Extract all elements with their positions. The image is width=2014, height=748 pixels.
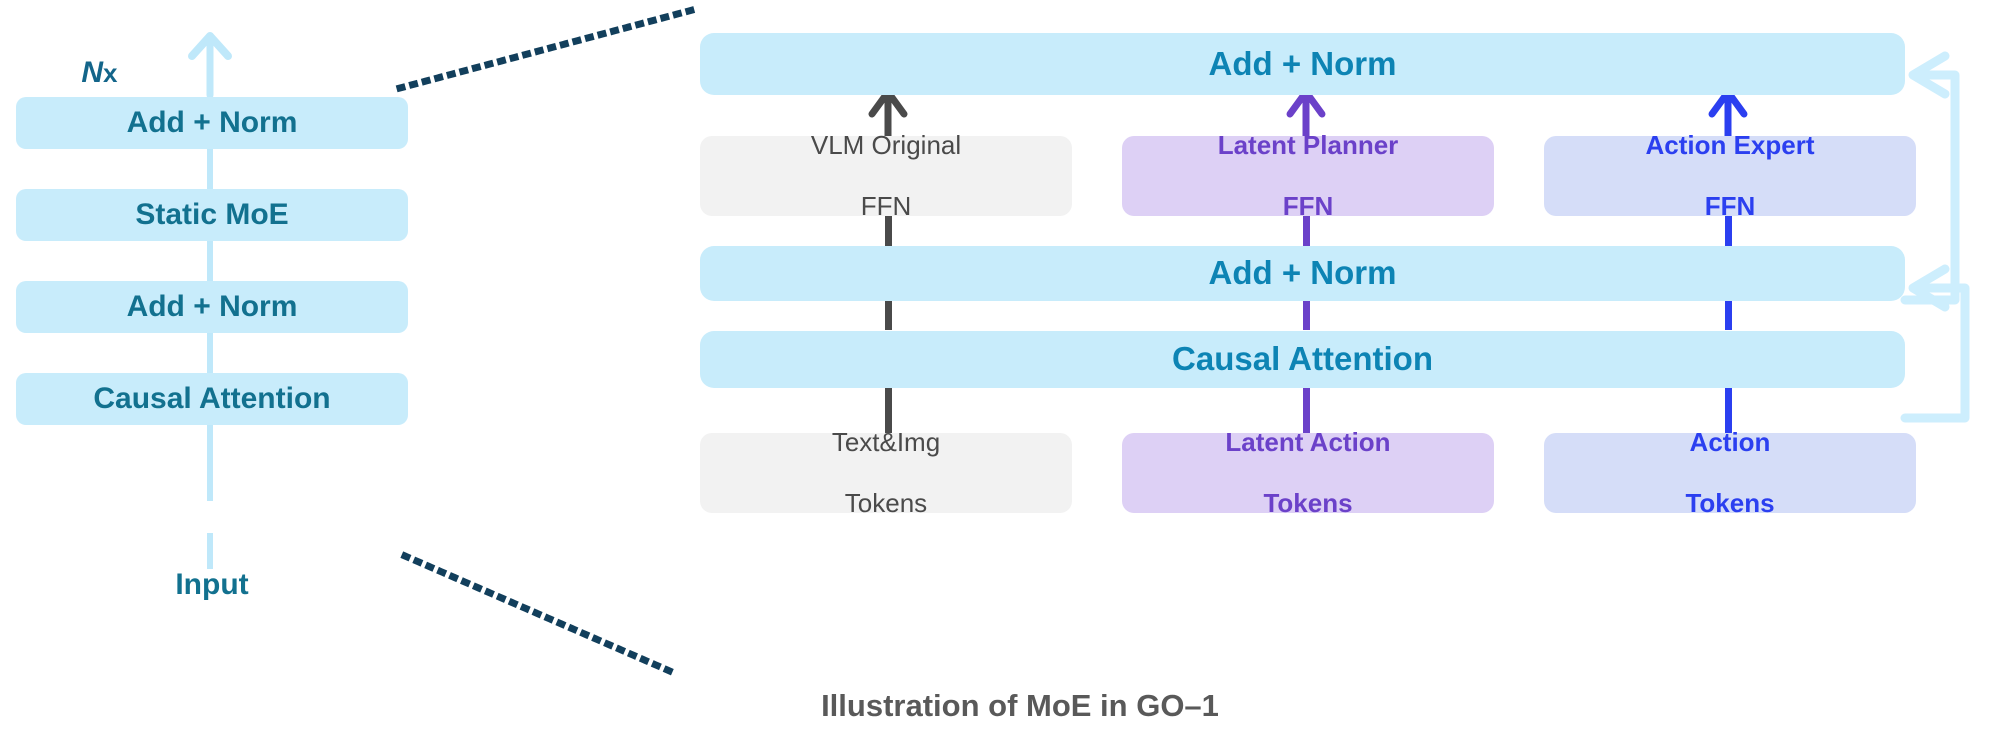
token-action-line1: Action [1685,427,1774,458]
token-latent-action-line2: Tokens [1225,488,1390,519]
stem-grey-mid-to-attn [885,300,892,330]
left-block-add-norm-top[interactable]: Add + Norm [16,97,408,149]
ffn-box-vlm-original[interactable]: VLM Original FFN [700,136,1072,216]
left-block-add-norm-bottom[interactable]: Add + Norm [16,281,408,333]
ffn-latent-line1: Latent Planner [1218,130,1399,161]
token-box-latent-action[interactable]: Latent Action Tokens [1122,433,1494,513]
left-spine-segment [207,421,213,501]
ffn-action-line2: FFN [1645,191,1814,222]
left-spine-segment [207,533,213,569]
left-flow-arrow-icon [192,36,228,95]
right-bar-causal-attention[interactable]: Causal Attention [700,331,1905,388]
ffn-box-action-expert[interactable]: Action Expert FFN [1544,136,1916,216]
diagram-canvas: Nx Add + Norm Static MoE Add + Norm Caus… [0,0,2014,748]
token-text-img-line1: Text&Img [832,427,940,458]
ffn-vlm-line1: VLM Original [811,130,961,161]
repeat-count-n: N [81,56,103,89]
stem-blue-mid-to-attn [1725,300,1732,330]
figure-caption: Illustration of MoE in GO–1 [620,688,1420,724]
stem-purple-mid-to-attn [1303,300,1310,330]
token-text-img-line2: Tokens [832,488,940,519]
token-box-text-img[interactable]: Text&Img Tokens [700,433,1072,513]
ffn-vlm-line2: FFN [811,191,961,222]
residual-arrow-lower-icon [1905,269,1965,418]
right-bar-add-norm-mid[interactable]: Add + Norm [700,246,1905,301]
left-block-causal-attention[interactable]: Causal Attention [16,373,408,425]
ffn-latent-line2: FFN [1218,191,1399,222]
input-label: Input [16,568,408,602]
token-action-line2: Tokens [1685,488,1774,519]
repeat-count-x: x [103,58,117,88]
left-block-static-moe[interactable]: Static MoE [16,189,408,241]
right-bar-add-norm-top[interactable]: Add + Norm [700,33,1905,95]
dotted-connector-top [400,8,700,88]
token-latent-action-line1: Latent Action [1225,427,1390,458]
ffn-action-line1: Action Expert [1645,130,1814,161]
ffn-box-latent-planner[interactable]: Latent Planner FFN [1122,136,1494,216]
token-box-action[interactable]: Action Tokens [1544,433,1916,513]
dotted-connector-bottom [405,556,672,672]
